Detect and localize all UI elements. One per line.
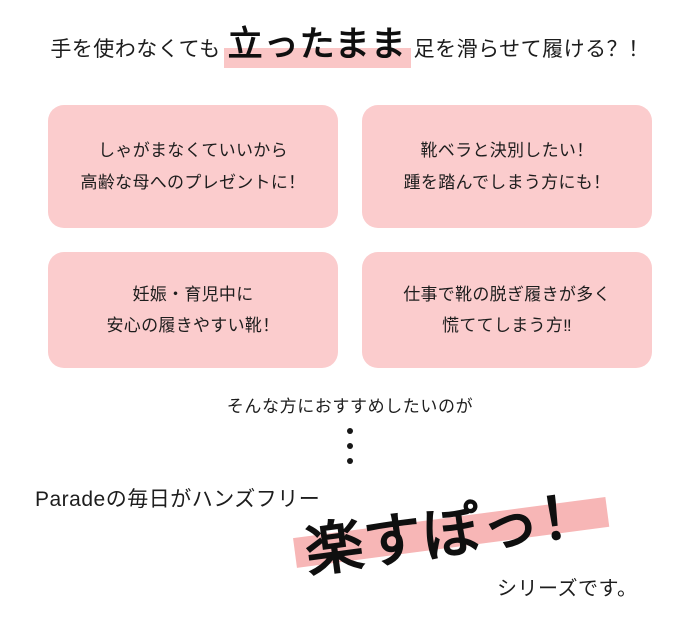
ellipsis-dot [347, 428, 353, 434]
headline-prefix: 手を使わなくても [50, 38, 220, 61]
card-line-1: 靴ベラと決別したい！ [421, 135, 594, 166]
benefit-card-shoehorn-free: 靴ベラと決別したい！ 踵を踏んでしまう方にも！ [362, 105, 652, 228]
lead-in-text: そんな方におすすめしたいのが [0, 392, 700, 417]
ellipsis-dot [347, 458, 353, 464]
advertisement-canvas: 手を使わなくても立ったまま足を滑らせて履ける？！ しゃがまなくていいから 高齢な… [0, 0, 700, 627]
headline: 手を使わなくても立ったまま足を滑らせて履ける？！ [0, 24, 700, 66]
card-line-1: しゃがまなくていいから [98, 135, 288, 166]
card-line-2: 踵を踏んでしまう方にも！ [404, 167, 611, 198]
benefit-card-work-shoe-changes: 仕事で靴の脱ぎ履きが多く 慌ててしまう方‼ [362, 252, 652, 368]
benefit-card-grid: しゃがまなくていいから 高齢な母へのプレゼントに！ 靴ベラと決別したい！ 踵を踏… [48, 105, 652, 368]
brand-name: 楽すぽっ！ [300, 467, 603, 589]
card-line-1: 妊娠・育児中に [132, 279, 253, 310]
card-line-2: 高齢な母へのプレゼントに！ [81, 167, 306, 198]
card-line-2: 慌ててしまう方‼ [442, 310, 572, 341]
vertical-ellipsis-icon [343, 428, 357, 464]
headline-emphasis: 立ったまま [228, 25, 407, 64]
benefit-card-crouch-free: しゃがまなくていいから 高齢な母へのプレゼントに！ [48, 105, 338, 228]
brand-tagline: Paradeの毎日がハンズフリー [35, 483, 320, 513]
headline-emphasis-group: 立ったまま [224, 24, 411, 66]
benefit-card-pregnancy-childcare: 妊娠・育児中に 安心の履きやすい靴！ [48, 252, 338, 368]
series-note: シリーズです。 [497, 572, 638, 601]
headline-suffix: 足を滑らせて履ける？！ [414, 38, 650, 61]
ellipsis-dot [347, 443, 353, 449]
card-line-1: 仕事で靴の脱ぎ履きが多く [403, 279, 611, 310]
card-line-2: 安心の履きやすい靴！ [107, 310, 280, 341]
